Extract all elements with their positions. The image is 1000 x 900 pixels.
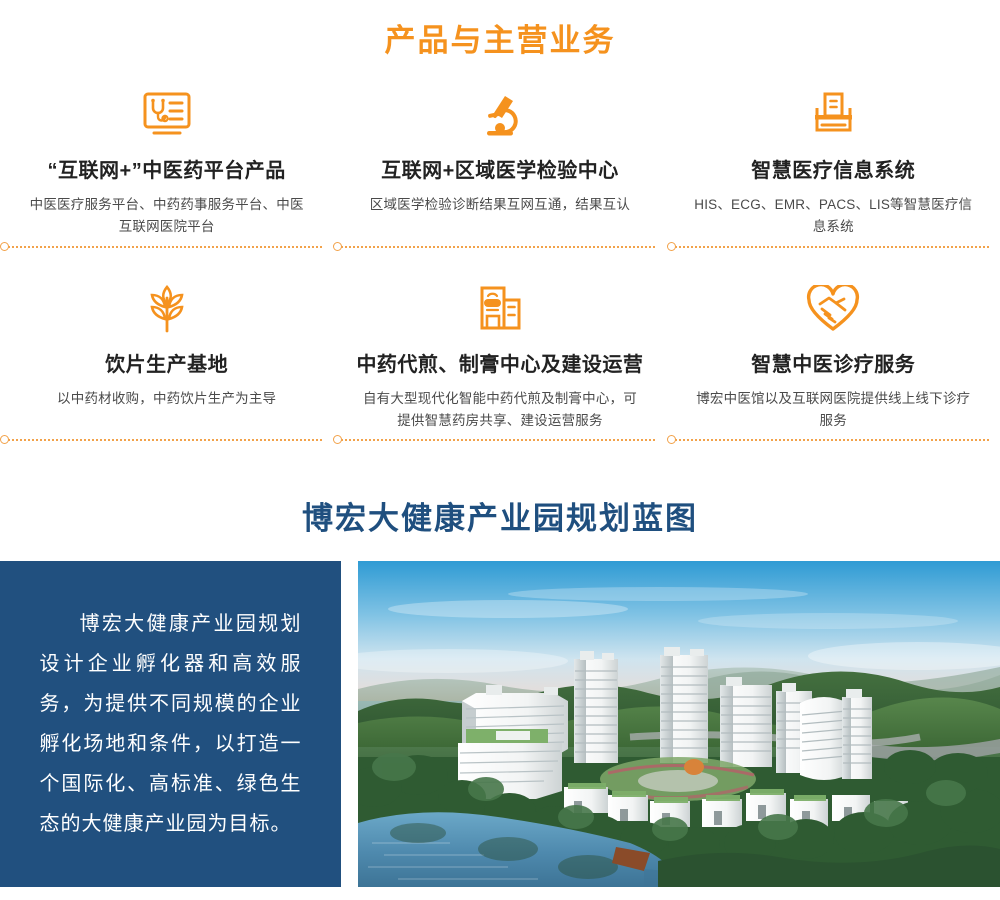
blueprint-section: 博宏大健康产业园规划蓝图 博宏大健康产业园规划设计企业孵化器和高效服务，为提供不… <box>0 500 1000 887</box>
blueprint-content-row: 博宏大健康产业园规划设计企业孵化器和高效服务，为提供不同规模的企业孵化场地和条件… <box>0 561 1000 887</box>
blueprint-description-text: 博宏大健康产业园规划设计企业孵化器和高效服务，为提供不同规模的企业孵化场地和条件… <box>40 604 302 844</box>
building-teapot-icon <box>347 281 652 337</box>
microscope-icon <box>347 87 652 143</box>
product-card-desc: 博宏中医馆以及互联网医院提供线上线下诊疗服务 <box>681 388 986 433</box>
blueprint-section-title: 博宏大健康产业园规划蓝图 <box>0 500 1000 537</box>
divider-line <box>675 246 990 248</box>
divider-row-1 <box>0 239 1000 255</box>
divider-cell <box>0 432 333 448</box>
product-card-platform[interactable]: “互联网+”中医药平台产品 中医医疗服务平台、中药药事服务平台、中医互联网医院平… <box>0 87 333 239</box>
product-card-herb-base[interactable]: 饮片生产基地 以中药材收购，中药饮片生产为主导 <box>0 281 333 433</box>
product-card-desc: 以中药材收购，中药饮片生产为主导 <box>14 388 319 410</box>
card-row-2: 饮片生产基地 以中药材收购，中药饮片生产为主导 <box>0 281 1000 433</box>
blueprint-description-panel: 博宏大健康产业园规划设计企业孵化器和高效服务，为提供不同规模的企业孵化场地和条件… <box>0 561 341 887</box>
medical-record-stethoscope-icon <box>14 87 319 143</box>
divider-cell <box>667 432 1000 448</box>
product-cards-grid: “互联网+”中医药平台产品 中医医疗服务平台、中药药事服务平台、中医互联网医院平… <box>0 87 1000 448</box>
page-root: 产品与主营业务 <box>0 0 1000 900</box>
product-card-title: 智慧中医诊疗服务 <box>681 353 986 378</box>
product-card-title: 互联网+区域医学检验中心 <box>347 159 652 184</box>
divider-line <box>341 439 656 441</box>
product-card-desc: 自有大型现代化智能中药代煎及制膏中心，可提供智慧药房共享、建设运营服务 <box>347 388 652 433</box>
document-tray-icon <box>681 87 986 143</box>
product-card-his[interactable]: 智慧医疗信息系统 HIS、ECG、EMR、PACS、LIS等智慧医疗信息系统 <box>667 87 1000 239</box>
product-card-title: “互联网+”中医药平台产品 <box>14 159 319 184</box>
wheat-herb-icon <box>14 281 319 337</box>
product-card-title: 饮片生产基地 <box>14 353 319 378</box>
park-rendering-image <box>358 561 1000 887</box>
divider-line <box>341 246 656 248</box>
product-card-decoction-center[interactable]: 中药代煎、制膏中心及建设运营 自有大型现代化智能中药代煎及制膏中心，可提供智慧药… <box>333 281 666 433</box>
divider-cell <box>333 239 666 255</box>
divider-cell <box>0 239 333 255</box>
product-card-desc: 中医医疗服务平台、中药药事服务平台、中医互联网医院平台 <box>14 194 319 239</box>
products-section-title: 产品与主营业务 <box>0 0 1000 59</box>
product-card-tcm-service[interactable]: 智慧中医诊疗服务 博宏中医馆以及互联网医院提供线上线下诊疗服务 <box>667 281 1000 433</box>
product-card-desc: HIS、ECG、EMR、PACS、LIS等智慧医疗信息系统 <box>681 194 986 239</box>
heart-handshake-icon <box>681 281 986 337</box>
card-row-1: “互联网+”中医药平台产品 中医医疗服务平台、中药药事服务平台、中医互联网医院平… <box>0 87 1000 239</box>
divider-line <box>8 246 323 248</box>
products-section: 产品与主营业务 <box>0 0 1000 448</box>
divider-row-2 <box>0 432 1000 448</box>
divider-cell <box>667 239 1000 255</box>
product-card-title: 智慧医疗信息系统 <box>681 159 986 184</box>
divider-cell <box>333 432 666 448</box>
product-card-desc: 区域医学检验诊断结果互网互通，结果互认 <box>347 194 652 216</box>
divider-line <box>8 439 323 441</box>
row-spacer <box>0 255 1000 281</box>
product-card-title: 中药代煎、制膏中心及建设运营 <box>347 353 652 378</box>
product-card-lab-center[interactable]: 互联网+区域医学检验中心 区域医学检验诊断结果互网互通，结果互认 <box>333 87 666 239</box>
divider-line <box>675 439 990 441</box>
